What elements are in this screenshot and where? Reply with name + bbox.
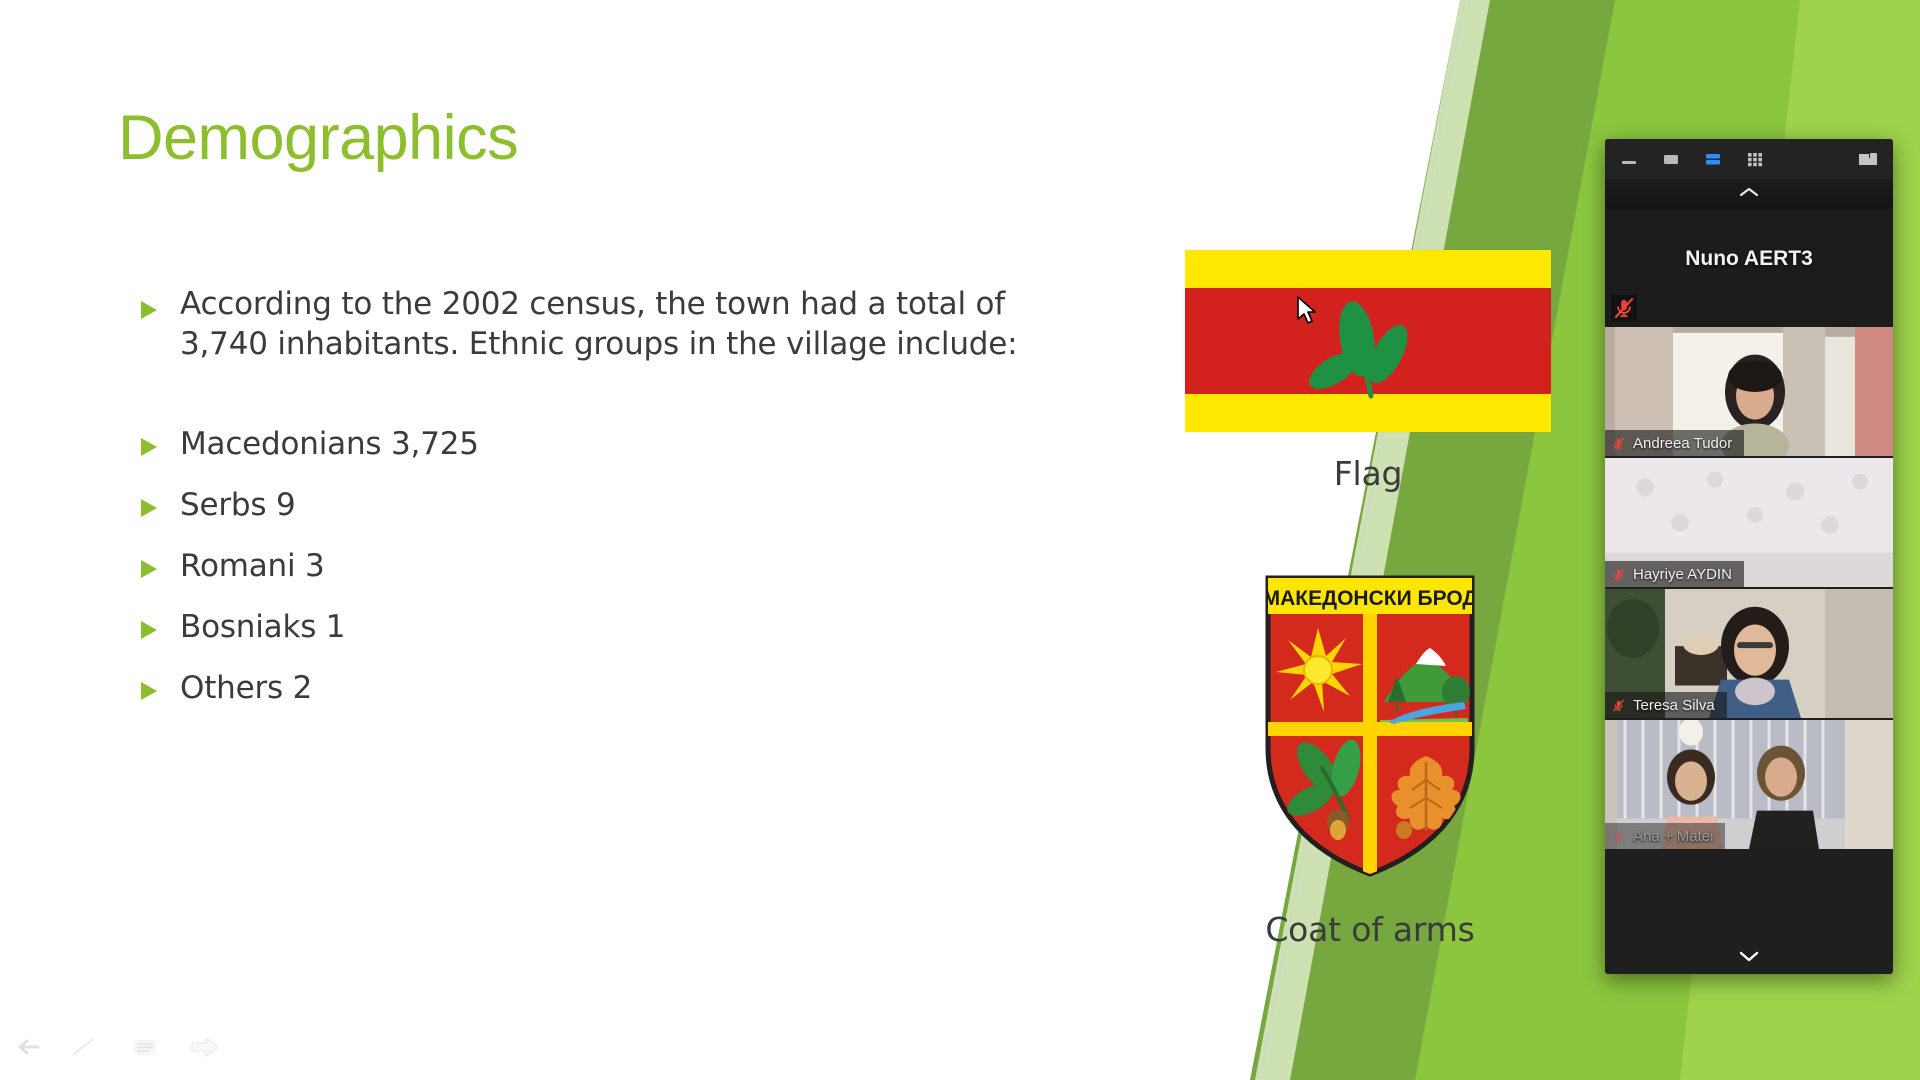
participant-name: Andreea Tudor [1633,435,1732,452]
participant-name: Teresa Silva [1633,697,1715,714]
flag-caption: Flag [1185,454,1551,493]
chevron-down-icon [1736,949,1762,969]
active-speaker-name: Nuno AERT3 [1685,247,1813,271]
participant-tile[interactable]: Hayriye AYDIN [1605,458,1893,589]
ethnic-group-list: Macedonians 3,725 Serbs 9 Romani 3 Bosni… [138,425,1088,709]
list-item-label: Romani 3 [180,547,325,587]
minimize-icon[interactable] [1619,149,1639,169]
speaker-view-icon[interactable] [1703,149,1723,169]
participant-list[interactable]: Andreea Tudor [1605,327,1893,974]
list-item: According to the 2002 census, the town h… [138,285,1088,365]
next-slide-button[interactable] [188,1030,222,1064]
coat-motto: МАКЕДОНСКИ БРОД [1263,587,1478,610]
participant-label: Teresa Silva [1605,692,1727,718]
video-conference-panel[interactable]: Nuno AERT3 [1605,139,1893,974]
list-item-label: Bosniaks 1 [180,608,345,648]
muted-microphone-icon [1611,697,1626,714]
coat-of-arms-figure: МАКЕДОНСКИ БРОД [1160,572,1580,949]
active-speaker-tile[interactable]: Nuno AERT3 [1605,209,1893,327]
list-item-label: Others 2 [180,669,312,709]
list-item-label: Macedonians 3,725 [180,425,479,465]
bullet-triangle-icon [138,619,164,641]
video-panel-toolbar[interactable] [1605,139,1893,179]
participant-label: Ana + Matei [1605,823,1725,849]
muted-microphone-icon [1611,828,1626,845]
list-item-label: Serbs 9 [180,486,296,526]
bullet-triangle-icon [138,436,164,458]
slide-body: According to the 2002 census, the town h… [138,285,1088,730]
coat-of-arms-caption: Coat of arms [1160,910,1580,949]
chevron-up-icon [1737,185,1761,204]
muted-microphone-icon [1611,435,1626,452]
participant-label: Hayriye AYDIN [1605,561,1744,587]
bullet-triangle-icon [138,497,164,519]
list-item: Serbs 9 [138,486,1088,526]
participant-name: Hayriye AYDIN [1633,566,1732,583]
maximize-icon[interactable] [1661,149,1681,169]
slide-menu-button[interactable] [128,1030,162,1064]
pip-icon[interactable] [1857,149,1879,169]
list-item: Romani 3 [138,547,1088,587]
bullet-triangle-icon [138,680,164,702]
list-item: Others 2 [138,669,1088,709]
spacer [138,365,1088,425]
bullet-triangle-icon [138,558,164,580]
scroll-down-button[interactable] [1605,948,1893,970]
collapse-panel-button[interactable] [1605,179,1893,209]
presentation-slideshow: Demographics According to the 2002 censu… [0,0,1920,1080]
list-item: Macedonians 3,725 [138,425,1088,465]
flag-figure: Flag [1185,250,1551,493]
list-item: Bosniaks 1 [138,608,1088,648]
intro-text: According to the 2002 census, the town h… [180,285,1080,365]
flag-image [1185,250,1551,432]
coat-of-arms-image: МАКЕДОНСКИ БРОД [1260,572,1480,882]
participant-label: Andreea Tudor [1605,430,1744,456]
previous-slide-button[interactable] [8,1030,42,1064]
muted-microphone-icon [1611,295,1637,321]
slideshow-controls[interactable] [8,1030,222,1064]
muted-microphone-icon [1611,566,1626,583]
bullet-triangle-icon [138,299,164,321]
participant-tile[interactable]: Andreea Tudor [1605,327,1893,458]
participant-tile[interactable]: Teresa Silva [1605,589,1893,720]
grid-icon[interactable] [1745,149,1765,169]
participant-tile[interactable]: Ana + Matei [1605,720,1893,851]
pen-tool-button[interactable] [68,1030,102,1064]
page-title: Demographics [118,105,518,171]
participant-name: Ana + Matei [1633,828,1713,845]
